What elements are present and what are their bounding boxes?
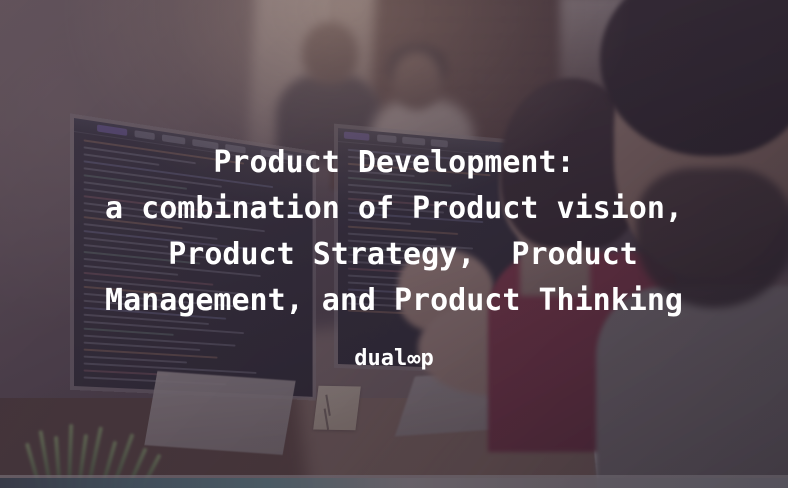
page-title: Product Development: a combination of Pr… bbox=[105, 140, 683, 324]
logo-text-prefix: dual bbox=[354, 348, 407, 370]
banner-content: Product Development: a combination of Pr… bbox=[0, 0, 788, 488]
infinity-icon: ∞ bbox=[407, 349, 420, 371]
logo-text-suffix: p bbox=[420, 348, 433, 370]
dualoop-logo: dual ∞ p bbox=[354, 348, 433, 370]
hero-banner: Product Development: a combination of Pr… bbox=[0, 0, 788, 488]
